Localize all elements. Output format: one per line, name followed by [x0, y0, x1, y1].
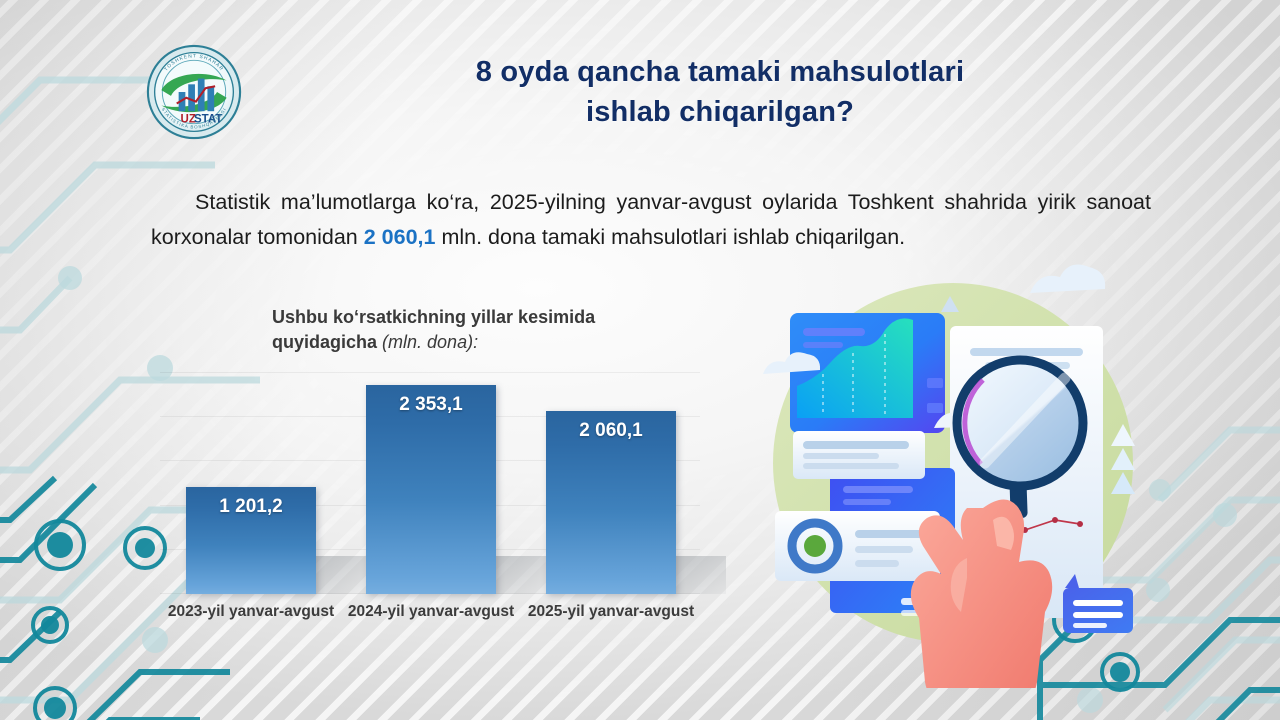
chart-x-axis-labels: 2023-yil yanvar-avgust 2024-yil yanvar-a…: [160, 602, 700, 662]
bar-value-2024: 2 353,1: [366, 394, 496, 416]
bar-2025[interactable]: 2 060,1: [546, 411, 676, 594]
page-title-line1: 8 oyda qancha tamaki mahsulotlari: [476, 56, 964, 88]
bar-value-2023: 1 201,2: [186, 496, 316, 518]
body-text-part2: mln. dona tamaki mahsulotlari ishlab chi…: [435, 225, 905, 249]
info-card-donut: [775, 511, 940, 581]
bar-2023[interactable]: 1 201,2: [186, 487, 316, 594]
body-highlight-value: 2 060,1: [364, 225, 436, 249]
bar-group-2025: 2 060,1: [546, 411, 676, 594]
infographic-canvas: UZ STAT TOSHKENT SHAHAR STATISTIKA BOSHQ…: [0, 0, 1280, 720]
data-analysis-illustration: [735, 258, 1165, 688]
bar-chart: 1 201,2 2 353,1 2 060,1 2023-yil yanvar-…: [160, 372, 705, 672]
x-label-2024: 2024-yil yanvar-avgust: [346, 602, 516, 622]
info-card-top: [793, 431, 925, 479]
body-paragraph: Statistik ma’lumotlarga ko‘ra, 2025-yiln…: [151, 185, 1151, 255]
chart-caption-unit: (mln. dona):: [382, 332, 478, 352]
chart-caption: Ushbu ko‘rsatkichning yillar kesimida qu…: [272, 305, 702, 355]
uzstat-logo: UZ STAT TOSHKENT SHAHAR STATISTIKA BOSHQ…: [146, 44, 242, 140]
x-label-2023: 2023-yil yanvar-avgust: [166, 602, 336, 622]
chart-bars: 1 201,2 2 353,1 2 060,1: [160, 372, 700, 594]
page-title-line2: ishlab chiqarilgan?: [300, 92, 1140, 132]
x-label-2025: 2025-yil yanvar-avgust: [526, 602, 696, 622]
bar-value-2025: 2 060,1: [546, 420, 676, 442]
bar-group-2023: 1 201,2: [186, 487, 316, 594]
dashboard-card-front: [790, 313, 945, 433]
bar-group-2024: 2 353,1: [366, 385, 496, 594]
page-title: 8 oyda qancha tamaki mahsulotlari ishlab…: [300, 52, 1140, 132]
bar-2024[interactable]: 2 353,1: [366, 385, 496, 594]
